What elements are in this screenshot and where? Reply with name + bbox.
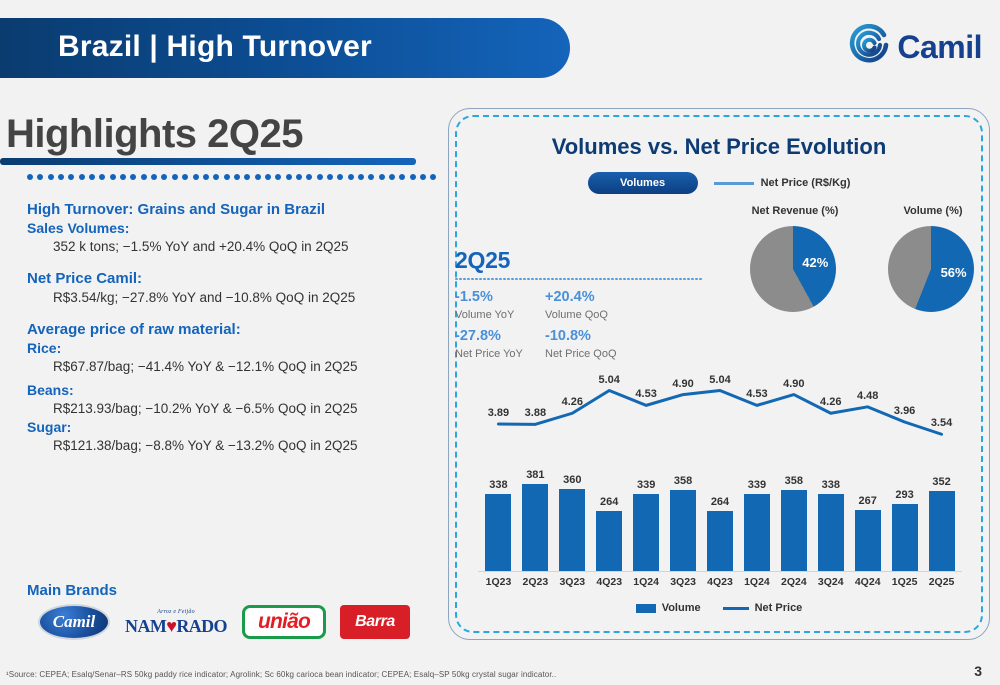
- dot: [327, 174, 333, 180]
- chart-top-legend: Volumes Net Price (R$/Kg): [448, 172, 990, 194]
- pie-volume-caption: Volume (%): [888, 205, 978, 217]
- pie-volume-chart: 56%: [888, 226, 974, 312]
- highlights-dot-row: [27, 172, 437, 182]
- dot: [663, 278, 666, 281]
- section-sub-0: Sales Volumes:: [27, 219, 437, 237]
- line-value-label: 4.90: [774, 378, 814, 390]
- bar: [485, 494, 511, 570]
- dot: [389, 174, 395, 180]
- bar: [892, 504, 918, 570]
- dot: [511, 278, 514, 281]
- brand-logo-barra: Barra: [340, 605, 410, 639]
- slide: Brazil | High Turnover Camil Highlights …: [0, 0, 1000, 685]
- bar-value-label: 360: [552, 474, 592, 486]
- table-row: 293: [892, 504, 918, 570]
- highlights-underline: [0, 158, 416, 165]
- bar-value-label: 264: [589, 496, 629, 508]
- dot: [475, 278, 478, 281]
- legend-net-price: Net Price (R$/Kg): [714, 177, 851, 189]
- dot: [655, 278, 658, 281]
- dot: [563, 278, 566, 281]
- dot: [234, 174, 240, 180]
- section-sub-4: Sugar:: [27, 418, 437, 436]
- dot: [224, 174, 230, 180]
- chart-title: Volumes vs. Net Price Evolution: [448, 134, 990, 160]
- section-body-2: R$67.87/bag; −41.4% YoY & −12.1% QoQ in …: [27, 357, 437, 376]
- line-value-label: 3.96: [885, 405, 925, 417]
- brand-logo-namorado: Arroz e Feijão NAM♥RADO: [124, 608, 228, 636]
- bar: [707, 511, 733, 571]
- dot: [623, 278, 626, 281]
- dot: [358, 174, 364, 180]
- line-value-label: 5.04: [700, 374, 740, 386]
- dot: [507, 278, 510, 281]
- bar-value-label: 352: [922, 476, 962, 488]
- table-row: 338: [818, 494, 844, 570]
- dot: [567, 278, 570, 281]
- dot: [487, 278, 490, 281]
- dot: [675, 278, 678, 281]
- table-row: 264: [596, 511, 622, 571]
- dot: [255, 174, 261, 180]
- kpi-grid: -1.5% +20.4% Volume YoY Volume QoQ -27.8…: [455, 288, 705, 365]
- kpi-label-price-qoq: Net Price QoQ: [545, 346, 705, 365]
- volumes-pill-button[interactable]: Volumes: [588, 172, 698, 194]
- dot: [265, 174, 271, 180]
- legend-item-volume: Volume: [636, 602, 701, 614]
- kpi-value-volume-qoq: +20.4%: [545, 288, 705, 306]
- dot: [37, 174, 43, 180]
- bar: [781, 490, 807, 571]
- kpi-label-price-yoy: Net Price YoY: [455, 346, 545, 365]
- brand-namorado-wordmark: NAM♥RADO: [125, 616, 227, 636]
- dot: [659, 278, 662, 281]
- dot: [515, 278, 518, 281]
- pie-volume-value: 56%: [941, 265, 967, 280]
- bar: [596, 511, 622, 571]
- kpi-label-volume-yoy: Volume YoY: [455, 307, 545, 326]
- table-row: 358: [781, 490, 807, 571]
- main-brands-title: Main Brands: [27, 582, 117, 599]
- dot: [68, 174, 74, 180]
- section-sub-2: Rice:: [27, 339, 437, 357]
- dot: [89, 174, 95, 180]
- kpi-block: 2Q25 -1.5% +20.4% Volume YoY Volume QoQ …: [455, 247, 705, 365]
- x-axis-label: 2Q25: [920, 576, 964, 588]
- dot: [495, 278, 498, 281]
- dot: [172, 174, 178, 180]
- camil-logo-text: Camil: [897, 29, 982, 66]
- dot: [683, 278, 686, 281]
- dot: [420, 174, 426, 180]
- line-value-label: 3.89: [478, 407, 518, 419]
- dot: [410, 174, 416, 180]
- net-price-legend-label-bottom: Net Price: [755, 602, 803, 614]
- dot: [130, 174, 136, 180]
- section-body-0: 352 k tons; −1.5% YoY and +20.4% QoQ in …: [27, 237, 437, 256]
- bar: [670, 490, 696, 571]
- footnote-source: ¹Source: CEPEA; Esalq/Senar–RS 50kg padd…: [6, 670, 556, 679]
- net-price-legend-label: Net Price (R$/Kg): [761, 177, 851, 189]
- dot: [244, 174, 250, 180]
- line-value-label: 4.26: [552, 396, 592, 408]
- dot: [699, 278, 702, 281]
- kpi-dotted-divider: [455, 277, 702, 281]
- dot: [467, 278, 470, 281]
- bar-value-label: 381: [515, 469, 555, 481]
- dot: [647, 278, 650, 281]
- dot: [555, 278, 558, 281]
- bar-value-label: 338: [811, 479, 851, 491]
- dot: [631, 278, 634, 281]
- dot: [671, 278, 674, 281]
- table-row: 352: [929, 491, 955, 571]
- dot: [583, 278, 586, 281]
- bar: [522, 484, 548, 570]
- dot: [639, 278, 642, 281]
- dot: [535, 278, 538, 281]
- dot: [551, 278, 554, 281]
- dot: [695, 278, 698, 281]
- dot: [611, 278, 614, 281]
- dot: [539, 278, 542, 281]
- bar: [633, 494, 659, 571]
- dot: [479, 278, 482, 281]
- section-body-3: R$213.93/bag; −10.2% YoY & −6.5% QoQ in …: [27, 399, 437, 418]
- table-row: 339: [744, 494, 770, 571]
- dot: [99, 174, 105, 180]
- dot: [627, 278, 630, 281]
- dot: [337, 174, 343, 180]
- dot: [213, 174, 219, 180]
- line-value-label: 3.88: [515, 407, 555, 419]
- dot: [430, 174, 436, 180]
- pie-net-revenue-chart: 42%: [750, 226, 836, 312]
- dot: [679, 278, 682, 281]
- bar-value-label: 293: [885, 489, 925, 501]
- dot: [79, 174, 85, 180]
- bar-value-label: 339: [737, 479, 777, 491]
- volumes-net-price-chart: 3381Q233.893812Q233.883603Q234.262644Q23…: [470, 372, 970, 572]
- bar-value-label: 358: [663, 475, 703, 487]
- main-brands-row: Camil Arroz e Feijão NAM♥RADO união Barr…: [38, 604, 410, 640]
- highlights-title: Highlights 2Q25: [6, 112, 303, 157]
- bar: [929, 491, 955, 571]
- dot: [575, 278, 578, 281]
- kpi-label-volume-qoq: Volume QoQ: [545, 307, 705, 326]
- dot: [519, 278, 522, 281]
- legend-item-net-price: Net Price: [723, 602, 803, 614]
- dot: [58, 174, 64, 180]
- dot: [667, 278, 670, 281]
- volume-bar-swatch: [636, 604, 656, 613]
- bar: [818, 494, 844, 570]
- dot: [547, 278, 550, 281]
- dot: [499, 278, 502, 281]
- line-value-label: 4.90: [663, 378, 703, 390]
- dot: [317, 174, 323, 180]
- dot: [595, 278, 598, 281]
- brand-logo-uniao: união: [242, 605, 326, 639]
- dot: [151, 174, 157, 180]
- table-row: 358: [670, 490, 696, 571]
- table-row: 381: [522, 484, 548, 570]
- dot: [599, 278, 602, 281]
- dot: [306, 174, 312, 180]
- table-row: 360: [559, 489, 585, 570]
- dot: [603, 278, 606, 281]
- dot: [161, 174, 167, 180]
- dot: [141, 174, 147, 180]
- chart-baseline-axis: [478, 571, 962, 573]
- section-head-1: Net Price Camil:: [27, 269, 437, 288]
- dot: [543, 278, 546, 281]
- table-row: 338: [485, 494, 511, 570]
- dot: [691, 278, 694, 281]
- pie-volume: Volume (%) 56%: [888, 205, 978, 312]
- dot: [368, 174, 374, 180]
- section-sub-3: Beans:: [27, 381, 437, 399]
- pie-net-revenue-value: 42%: [802, 255, 828, 270]
- bar-value-label: 264: [700, 496, 740, 508]
- dot: [463, 278, 466, 281]
- dot: [587, 278, 590, 281]
- net-price-bottom-swatch: [723, 607, 749, 610]
- dot: [471, 278, 474, 281]
- dot: [491, 278, 494, 281]
- dot: [455, 278, 458, 281]
- dot: [591, 278, 594, 281]
- dot: [503, 278, 506, 281]
- dot: [296, 174, 302, 180]
- dot: [48, 174, 54, 180]
- brand-logo-camil: Camil: [38, 604, 110, 640]
- section-body-4: R$121.38/bag; −8.8% YoY & −13.2% QoQ in …: [27, 436, 437, 455]
- table-row: 339: [633, 494, 659, 571]
- line-value-label: 4.48: [848, 390, 888, 402]
- bar: [855, 510, 881, 570]
- dot: [483, 278, 486, 281]
- dot: [651, 278, 654, 281]
- dot: [619, 278, 622, 281]
- table-row: 267: [855, 510, 881, 570]
- dot: [527, 278, 530, 281]
- brand-namorado-tagline: Arroz e Feijão: [157, 608, 195, 616]
- dot: [643, 278, 646, 281]
- line-value-label: 5.04: [589, 374, 629, 386]
- dot: [571, 278, 574, 281]
- dot: [182, 174, 188, 180]
- dot: [579, 278, 582, 281]
- dot: [120, 174, 126, 180]
- table-row: 264: [707, 511, 733, 571]
- page-title: Brazil | High Turnover: [58, 30, 372, 64]
- pie-net-revenue: Net Revenue (%) 42%: [750, 205, 840, 312]
- camil-spiral-icon: [848, 24, 890, 71]
- kpi-quarter: 2Q25: [455, 247, 705, 274]
- bar-value-label: 358: [774, 475, 814, 487]
- kpi-value-volume-yoy: -1.5%: [455, 288, 545, 306]
- dot: [531, 278, 534, 281]
- dot: [348, 174, 354, 180]
- dot: [193, 174, 199, 180]
- dot: [379, 174, 385, 180]
- bar-value-label: 267: [848, 495, 888, 507]
- dot: [275, 174, 281, 180]
- line-value-label: 4.26: [811, 396, 851, 408]
- dot: [607, 278, 610, 281]
- volume-legend-label: Volume: [662, 602, 701, 614]
- dot: [459, 278, 462, 281]
- section-body-1: R$3.54/kg; −27.8% YoY and −10.8% QoQ in …: [27, 288, 437, 307]
- dot: [203, 174, 209, 180]
- dot: [110, 174, 116, 180]
- dot: [559, 278, 562, 281]
- page-number: 3: [974, 663, 982, 679]
- bar-value-label: 339: [626, 479, 666, 491]
- kpi-value-price-qoq: -10.8%: [545, 327, 705, 345]
- kpi-value-price-yoy: -27.8%: [455, 327, 545, 345]
- dot: [615, 278, 618, 281]
- pie-net-revenue-caption: Net Revenue (%): [750, 205, 840, 217]
- dot: [399, 174, 405, 180]
- bar: [744, 494, 770, 571]
- dot: [635, 278, 638, 281]
- bar: [559, 489, 585, 570]
- dot: [27, 174, 33, 180]
- line-value-label: 4.53: [626, 388, 666, 400]
- dot: [523, 278, 526, 281]
- line-value-label: 4.53: [737, 388, 777, 400]
- camil-logo: Camil: [848, 24, 982, 71]
- line-value-label: 3.54: [922, 417, 962, 429]
- chart-bottom-legend: Volume Net Price: [448, 602, 990, 614]
- highlights-content: High Turnover: Grains and Sugar in Brazi…: [27, 200, 437, 455]
- dot: [286, 174, 292, 180]
- section-head-0: High Turnover: Grains and Sugar in Brazi…: [27, 200, 437, 219]
- bar-value-label: 338: [478, 479, 518, 491]
- dot: [687, 278, 690, 281]
- net-price-line-swatch: [714, 182, 754, 185]
- section-head-2: Average price of raw material:: [27, 320, 437, 339]
